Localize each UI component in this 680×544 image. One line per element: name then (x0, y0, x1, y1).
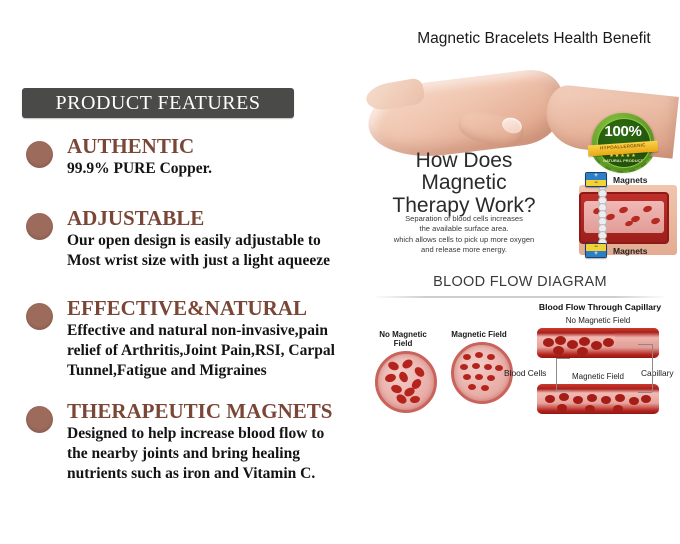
therapy-subtext-line: the available surface area. (366, 224, 562, 234)
therapy-subtext-line: and release more energy. (366, 245, 562, 255)
leader-line (556, 390, 570, 391)
cross-section-magnetic-field: Magnetic Field (446, 330, 513, 404)
cross-section-label: No Magnetic Field (370, 330, 436, 348)
label-blood-cells: Blood Cells (504, 368, 546, 378)
section-divider (372, 296, 668, 298)
therapy-heading-line: Magnetic (374, 172, 554, 194)
feature-description-line: Our open design is easily adjustable to (67, 231, 330, 251)
label-capillary: Capillary (641, 368, 674, 378)
feature-description-line: Most wrist size with just a light aqueez… (67, 251, 330, 271)
blood-cell (567, 340, 578, 349)
blood-cell (545, 395, 555, 403)
blood-cell (629, 397, 639, 405)
product-features-banner-label: PRODUCT FEATURES (56, 92, 261, 115)
quality-badge-icon: 100% HYPOALLERGENIC ★★★★★ NATURAL PRODUC… (586, 112, 660, 174)
cross-section-no-magnetic-field: No Magnetic Field (370, 330, 437, 413)
magnet-icon: − + (585, 243, 607, 258)
product-features-panel: PRODUCT FEATURES AUTHENTIC 99.9% PURE Co… (0, 0, 358, 544)
feature-description-line: Effective and natural non-invasive,pain (67, 321, 335, 341)
blood-cell (481, 385, 489, 391)
therapy-subtext: Separation of blood cells increases the … (366, 214, 562, 256)
cross-section-label: Magnetic Field (446, 330, 512, 339)
feature-title: AUTHENTIC (67, 135, 212, 157)
magnet-label-text: Magnets (613, 246, 647, 256)
blood-flow-diagram-title: BLOOD FLOW DIAGRAM (360, 274, 680, 290)
blood-cell (587, 394, 597, 402)
blood-cell (603, 338, 614, 347)
blood-cell (579, 337, 590, 346)
leader-line (556, 358, 557, 390)
feature-description-line: relief of Arthritis,Joint Pain,RSI, Carp… (67, 341, 335, 361)
blood-cell (543, 338, 554, 347)
blood-cell (460, 364, 468, 370)
blood-cell (463, 354, 471, 360)
blood-cell (475, 352, 483, 358)
page-title: Magnetic Bracelets Health Benefit (388, 30, 680, 48)
blood-cell (384, 373, 397, 383)
feature-item-authentic: AUTHENTIC 99.9% PURE Copper. (26, 135, 212, 179)
capillary-top-label: No Magnetic Field (538, 316, 658, 325)
capillary-diagram-title: Blood Flow Through Capillary (520, 302, 680, 312)
blood-cell (413, 365, 426, 378)
blood-cell (487, 375, 495, 381)
feature-title: ADJUSTABLE (67, 207, 330, 229)
feature-body: EFFECTIVE&NATURAL Effective and natural … (67, 297, 335, 381)
vessel-cross-section-shape (375, 351, 437, 413)
infographic-page: PRODUCT FEATURES AUTHENTIC 99.9% PURE Co… (0, 0, 680, 544)
blood-cell (559, 393, 569, 401)
blood-cell (601, 396, 611, 404)
blood-cell (613, 405, 623, 413)
blood-cell (401, 358, 415, 371)
bullet-icon (26, 406, 53, 433)
feature-title: THERAPEUTIC MAGNETS (67, 400, 332, 422)
health-benefit-panel: Magnetic Bracelets Health Benefit How Do… (360, 0, 680, 544)
blood-cell (472, 363, 480, 369)
feature-item-adjustable: ADJUSTABLE Our open design is easily adj… (26, 207, 330, 271)
blood-cell (487, 354, 495, 360)
magnet-pole-negative: − (586, 180, 606, 187)
blood-cell (577, 347, 588, 356)
feature-item-effective-natural: EFFECTIVE&NATURAL Effective and natural … (26, 297, 335, 381)
magnet-label-text: Magnets (613, 175, 647, 185)
feature-description-line: 99.9% PURE Copper. (67, 159, 212, 179)
feature-description-line: Designed to help increase blood flow to (67, 424, 332, 444)
feature-item-therapeutic-magnets: THERAPEUTIC MAGNETS Designed to help inc… (26, 400, 332, 484)
blood-cell (615, 394, 625, 402)
bullet-icon (26, 141, 53, 168)
therapy-heading-line: How Does (374, 150, 554, 172)
blood-cell (484, 364, 492, 370)
badge-bottom-label: NATURAL PRODUCT (597, 158, 649, 163)
magnet-label-bottom: − + Magnets (585, 243, 647, 258)
leader-line (638, 392, 652, 393)
blood-cell (463, 374, 471, 380)
feature-description-line: Tunnel,Fatigue and Migraines (67, 361, 335, 381)
bracelet-chain-icon (598, 182, 605, 246)
feature-description: 99.9% PURE Copper. (67, 159, 212, 179)
bullet-icon (26, 303, 53, 330)
blood-cell (387, 360, 400, 372)
blood-cell (397, 370, 409, 383)
blood-cell (410, 395, 421, 403)
blood-cell (585, 405, 595, 413)
therapy-subtext-line: Separation of blood cells increases (366, 214, 562, 224)
feature-description-line: nutrients such as iron and Vitamin C. (67, 464, 332, 484)
blood-cell (468, 384, 476, 390)
blood-cell (553, 346, 564, 355)
blood-cell (475, 374, 483, 380)
magnet-pole-positive: + (586, 251, 606, 258)
feature-body: THERAPEUTIC MAGNETS Designed to help inc… (67, 400, 332, 484)
leader-line (556, 358, 570, 359)
feature-description: Our open design is easily adjustable to … (67, 231, 330, 271)
leader-line (652, 344, 653, 392)
badge-percent-label: 100% (597, 123, 649, 140)
therapy-subtext-line: which allows cells to pick up more oxyge… (366, 235, 562, 245)
feature-body: AUTHENTIC 99.9% PURE Copper. (67, 135, 212, 179)
leader-line (638, 344, 652, 345)
magnet-icon: + − (585, 172, 607, 187)
magnet-label-top: + − Magnets (585, 172, 647, 187)
bullet-icon (26, 213, 53, 240)
blood-cell (591, 341, 602, 350)
capillary-tube-no-magnetic-field (537, 328, 659, 358)
feature-description: Designed to help increase blood flow to … (67, 424, 332, 483)
blood-vessel-shape (579, 192, 669, 244)
blood-cell (495, 365, 503, 371)
therapy-heading: How Does Magnetic Therapy Work? (374, 150, 554, 217)
feature-description-line: the nearby joints and bring healing (67, 444, 332, 464)
blood-cell (641, 395, 651, 403)
product-features-banner: PRODUCT FEATURES (22, 88, 294, 118)
feature-title: EFFECTIVE&NATURAL (67, 297, 335, 319)
blood-cell (555, 336, 566, 345)
feature-description: Effective and natural non-invasive,pain … (67, 321, 335, 380)
blood-cell (557, 404, 567, 412)
blood-cell (573, 396, 583, 404)
feature-body: ADJUSTABLE Our open design is easily adj… (67, 207, 330, 271)
blood-cell (390, 383, 403, 394)
